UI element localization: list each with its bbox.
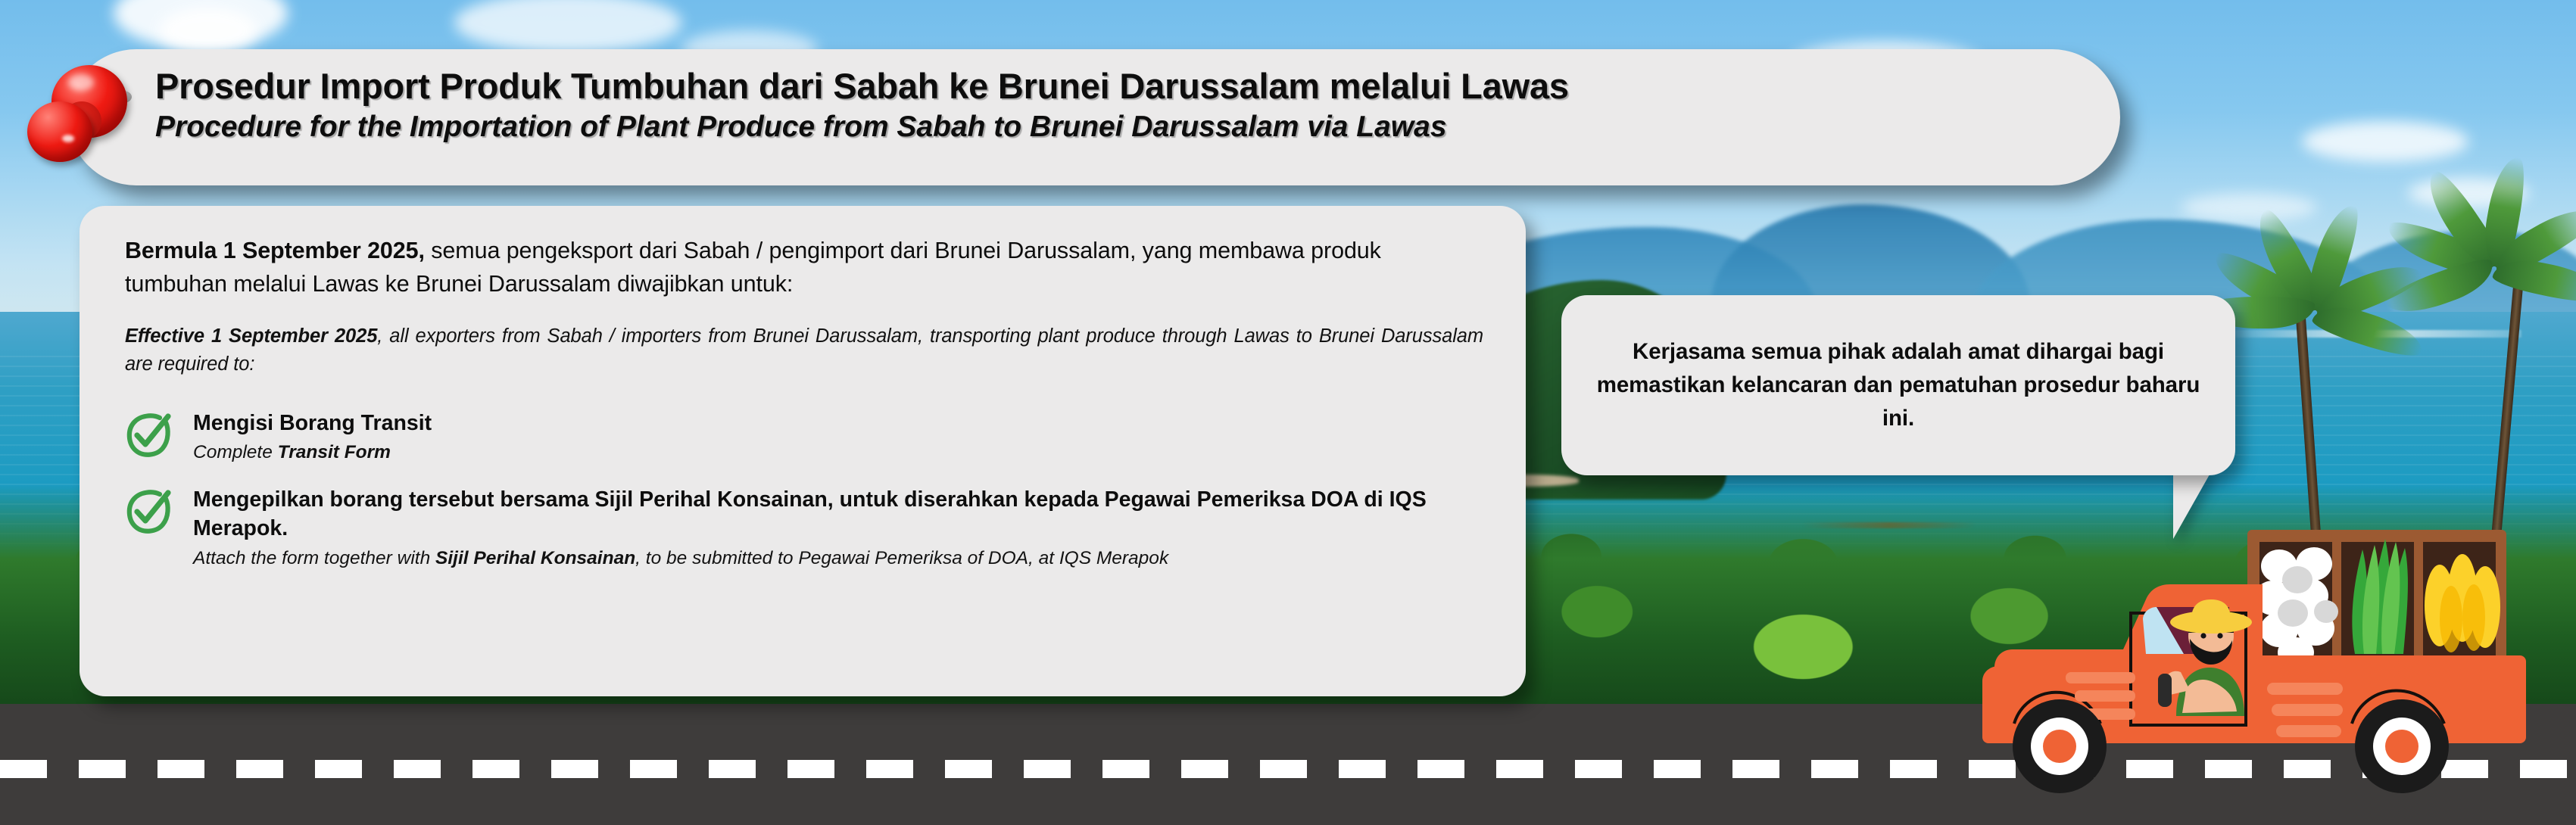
speech-bubble-text: Kerjasama semua pihak adalah amat diharg… <box>1592 335 2205 436</box>
checklist-item: Mengisi Borang Transit Complete Transit … <box>125 409 1483 465</box>
checklist-item-en: Attach the form together with Sijil Peri… <box>193 546 1483 571</box>
intro-ms-bold-lead: Bermula 1 September 2025, <box>125 238 425 263</box>
intro-en-bold-lead: Effective 1 September 2025 <box>125 325 377 347</box>
cloud-icon <box>2302 121 2468 162</box>
checklist-item: Mengepilkan borang tersebut bersama Siji… <box>125 485 1483 571</box>
checklist-en-plain-2: , to be submitted to Pegawai Pemeriksa o… <box>635 548 1168 568</box>
cloud-icon <box>2181 193 2317 222</box>
title-banner: Prosedur Import Produk Tumbuhan dari Sab… <box>68 49 2120 185</box>
checklist-item-ms: Mengisi Borang Transit <box>193 409 432 437</box>
palm-tree-icon <box>2400 189 2576 507</box>
cloud-icon <box>159 8 257 53</box>
green-check-circle-icon <box>125 410 173 459</box>
truck-wheel <box>2355 699 2449 793</box>
checklist-item-text: Mengisi Borang Transit Complete Transit … <box>193 409 432 465</box>
requirements-checklist: Mengisi Borang Transit Complete Transit … <box>125 409 1483 571</box>
checklist-en-bold: Sijil Perihal Konsainan <box>435 548 635 568</box>
green-check-circle-icon <box>125 487 173 535</box>
checklist-item-ms: Mengepilkan borang tersebut bersama Siji… <box>193 485 1483 543</box>
page-title-ms: Prosedur Import Produk Tumbuhan dari Sab… <box>155 64 2120 107</box>
checklist-en-plain: Complete <box>193 442 278 462</box>
page-title-en: Procedure for the Importation of Plant P… <box>155 109 2120 146</box>
cargo-crate <box>2247 530 2506 668</box>
intro-paragraph-en: Effective 1 September 2025, all exporter… <box>125 322 1483 378</box>
checklist-en-bold: Transit Form <box>278 442 391 462</box>
checklist-en-plain: Attach the form together with <box>193 548 435 568</box>
main-info-card: Bermula 1 September 2025, semua pengeksp… <box>80 206 1526 696</box>
checklist-item-text: Mengepilkan borang tersebut bersama Siji… <box>193 485 1483 571</box>
speech-bubble: Kerjasama semua pihak adalah amat diharg… <box>1561 295 2235 475</box>
truck-wheel <box>2013 699 2107 793</box>
intro-paragraph-ms: Bermula 1 September 2025, semua pengeksp… <box>125 235 1483 301</box>
checklist-item-en: Complete Transit Form <box>193 440 432 465</box>
poster-canvas: Prosedur Import Produk Tumbuhan dari Sab… <box>0 0 2576 825</box>
red-pushpin-icon <box>23 59 136 165</box>
orange-pickup-truck-icon <box>1967 492 2565 801</box>
